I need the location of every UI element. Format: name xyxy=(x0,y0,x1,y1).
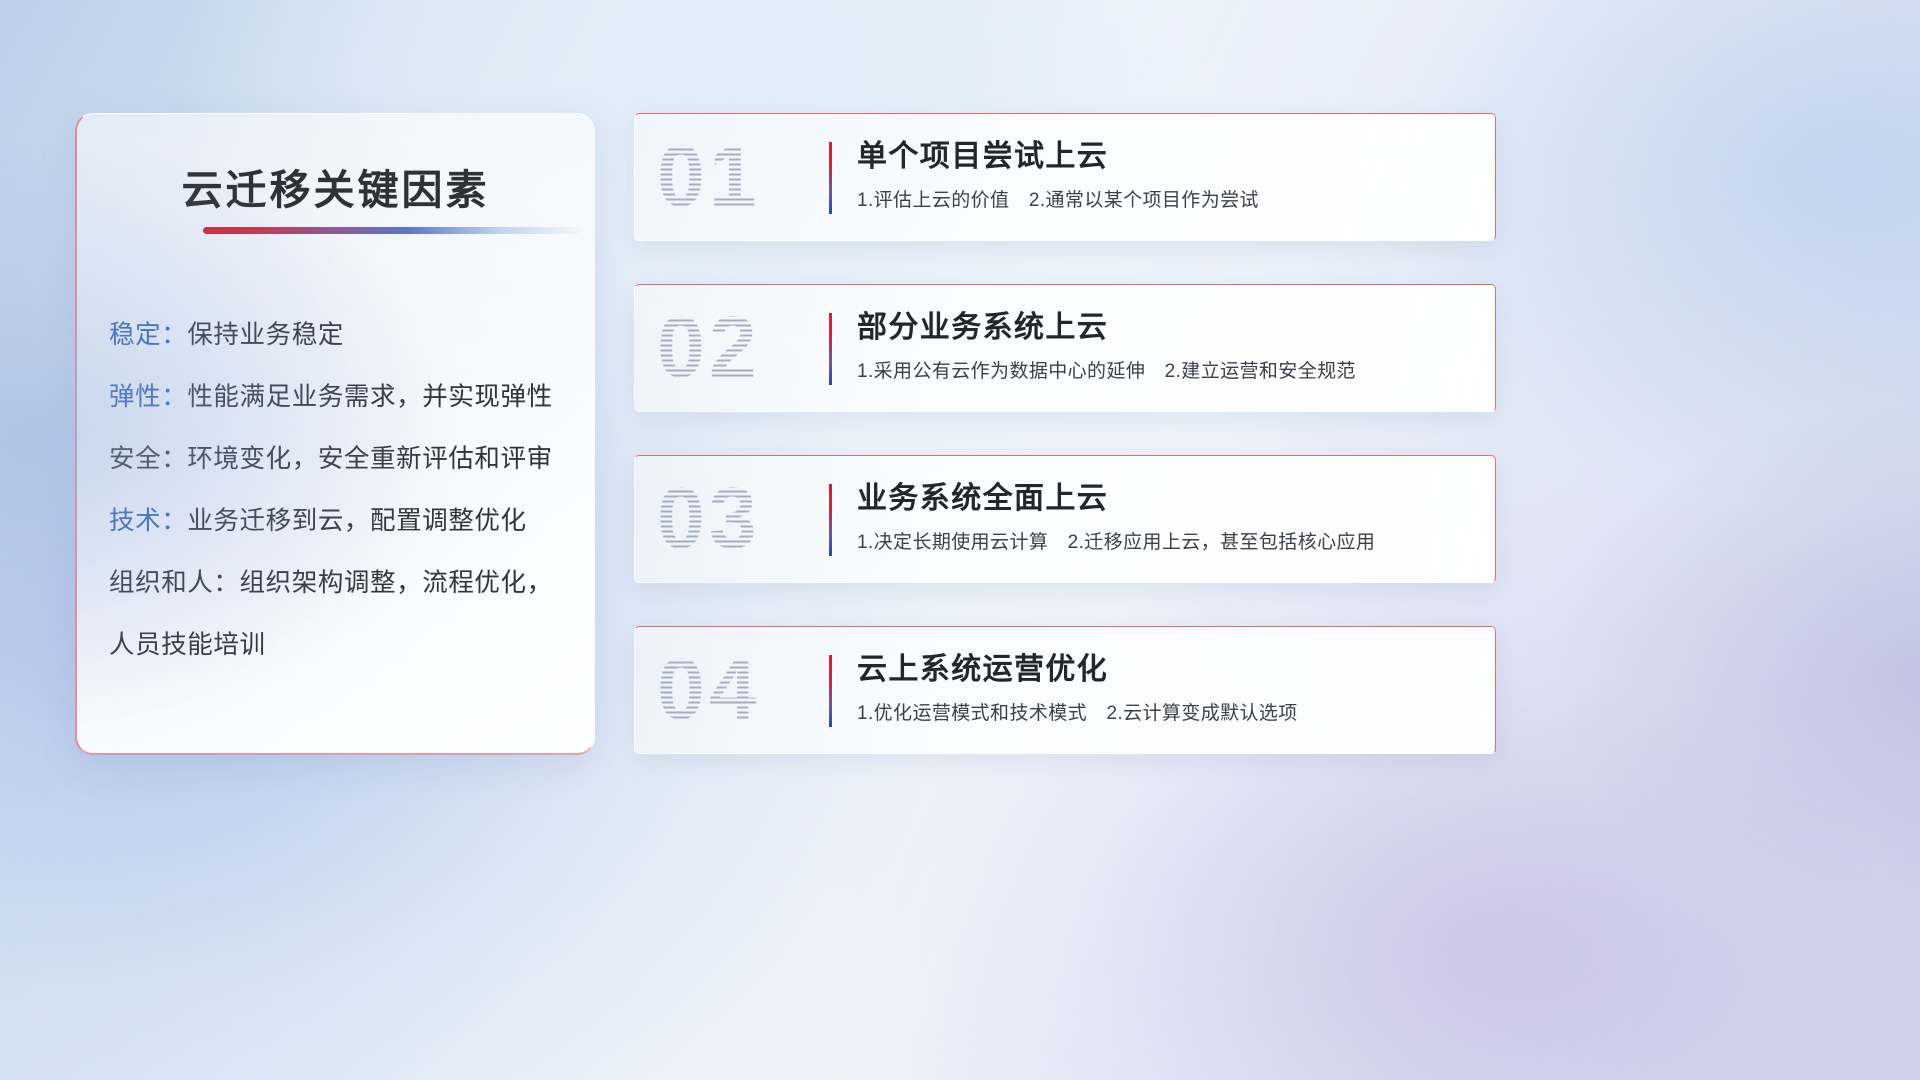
migration-steps-list: 01 单个项目尝试上云 1.评估上云的价值 2.通常以某个项目作为尝试 02 部… xyxy=(634,113,1496,797)
step-number-text: 02 xyxy=(657,300,761,396)
step-card-04[interactable]: 04 云上系统运营优化 1.优化运营模式和技术模式 2.云计算变成默认选项 xyxy=(634,626,1496,754)
step-description: 1.评估上云的价值 2.通常以某个项目作为尝试 xyxy=(857,185,1479,212)
step-heading: 单个项目尝试上云 xyxy=(857,136,1479,178)
factor-label: 稳定： xyxy=(109,321,187,349)
factor-value: 业务迁移到云，配置调整优化 xyxy=(187,507,526,535)
factor-row: 组织和人：组织架构调整，流程优化， xyxy=(109,552,576,614)
step-number-watermark: 03 xyxy=(657,470,761,569)
step-card-02[interactable]: 02 部分业务系统上云 1.采用公有云作为数据中心的延伸 2.建立运营和安全规范 xyxy=(634,284,1496,412)
step-text-block: 业务系统全面上云 1.决定长期使用云计算 2.迁移应用上云，甚至包括核心应用 xyxy=(857,478,1479,554)
factor-row-continuation: 人员技能培训 xyxy=(109,614,576,676)
step-divider-accent xyxy=(829,484,832,556)
step-description: 1.优化运营模式和技术模式 2.云计算变成默认选项 xyxy=(857,698,1479,725)
factor-row: 技术：业务迁移到云，配置调整优化 xyxy=(109,490,576,552)
step-divider-accent xyxy=(829,313,832,385)
factor-value: 保持业务稳定 xyxy=(187,321,344,349)
step-number-text: 01 xyxy=(657,129,761,225)
step-number-text: 04 xyxy=(657,642,761,738)
step-description: 1.采用公有云作为数据中心的延伸 2.建立运营和安全规范 xyxy=(857,356,1479,383)
factor-value: 环境变化，安全重新评估和评审 xyxy=(187,445,552,473)
step-heading: 业务系统全面上云 xyxy=(857,478,1479,520)
factor-value: 组织架构调整，流程优化， xyxy=(240,569,553,597)
factor-row: 弹性：性能满足业务需求，并实现弹性 xyxy=(109,366,576,428)
step-description: 1.决定长期使用云计算 2.迁移应用上云，甚至包括核心应用 xyxy=(857,527,1479,554)
step-card-03[interactable]: 03 业务系统全面上云 1.决定长期使用云计算 2.迁移应用上云，甚至包括核心应… xyxy=(634,455,1496,583)
factor-value: 人员技能培训 xyxy=(109,631,266,659)
step-heading: 云上系统运营优化 xyxy=(857,649,1479,691)
step-heading: 部分业务系统上云 xyxy=(857,307,1479,349)
step-divider-accent xyxy=(829,655,832,727)
step-number-watermark: 01 xyxy=(657,128,761,227)
factor-label: 安全： xyxy=(109,445,187,473)
slide-root: 云迁移关键因素 稳定：保持业务稳定 弹性：性能满足业务需求，并实现弹性 安全：环… xyxy=(0,0,1920,1080)
factor-label: 弹性： xyxy=(109,383,187,411)
step-text-block: 云上系统运营优化 1.优化运营模式和技术模式 2.云计算变成默认选项 xyxy=(857,649,1479,725)
factor-label: 技术： xyxy=(109,507,187,535)
step-text-block: 部分业务系统上云 1.采用公有云作为数据中心的延伸 2.建立运营和安全规范 xyxy=(857,307,1479,383)
page-title: 云迁移关键因素 xyxy=(77,156,594,216)
factor-row: 安全：环境变化，安全重新评估和评审 xyxy=(109,428,576,490)
factor-label: 组织和人： xyxy=(109,569,240,597)
step-number-watermark: 02 xyxy=(657,299,761,398)
factor-value: 性能满足业务需求，并实现弹性 xyxy=(187,383,552,411)
step-card-01[interactable]: 01 单个项目尝试上云 1.评估上云的价值 2.通常以某个项目作为尝试 xyxy=(634,113,1496,241)
factor-list: 稳定：保持业务稳定 弹性：性能满足业务需求，并实现弹性 安全：环境变化，安全重新… xyxy=(109,304,576,676)
factor-row: 稳定：保持业务稳定 xyxy=(109,304,576,366)
key-factors-panel: 云迁移关键因素 稳定：保持业务稳定 弹性：性能满足业务需求，并实现弹性 安全：环… xyxy=(75,113,595,755)
step-text-block: 单个项目尝试上云 1.评估上云的价值 2.通常以某个项目作为尝试 xyxy=(857,136,1479,212)
step-divider-accent xyxy=(829,142,832,214)
step-number-watermark: 04 xyxy=(657,641,761,740)
title-underline-accent xyxy=(203,227,583,234)
step-number-text: 03 xyxy=(657,471,761,567)
